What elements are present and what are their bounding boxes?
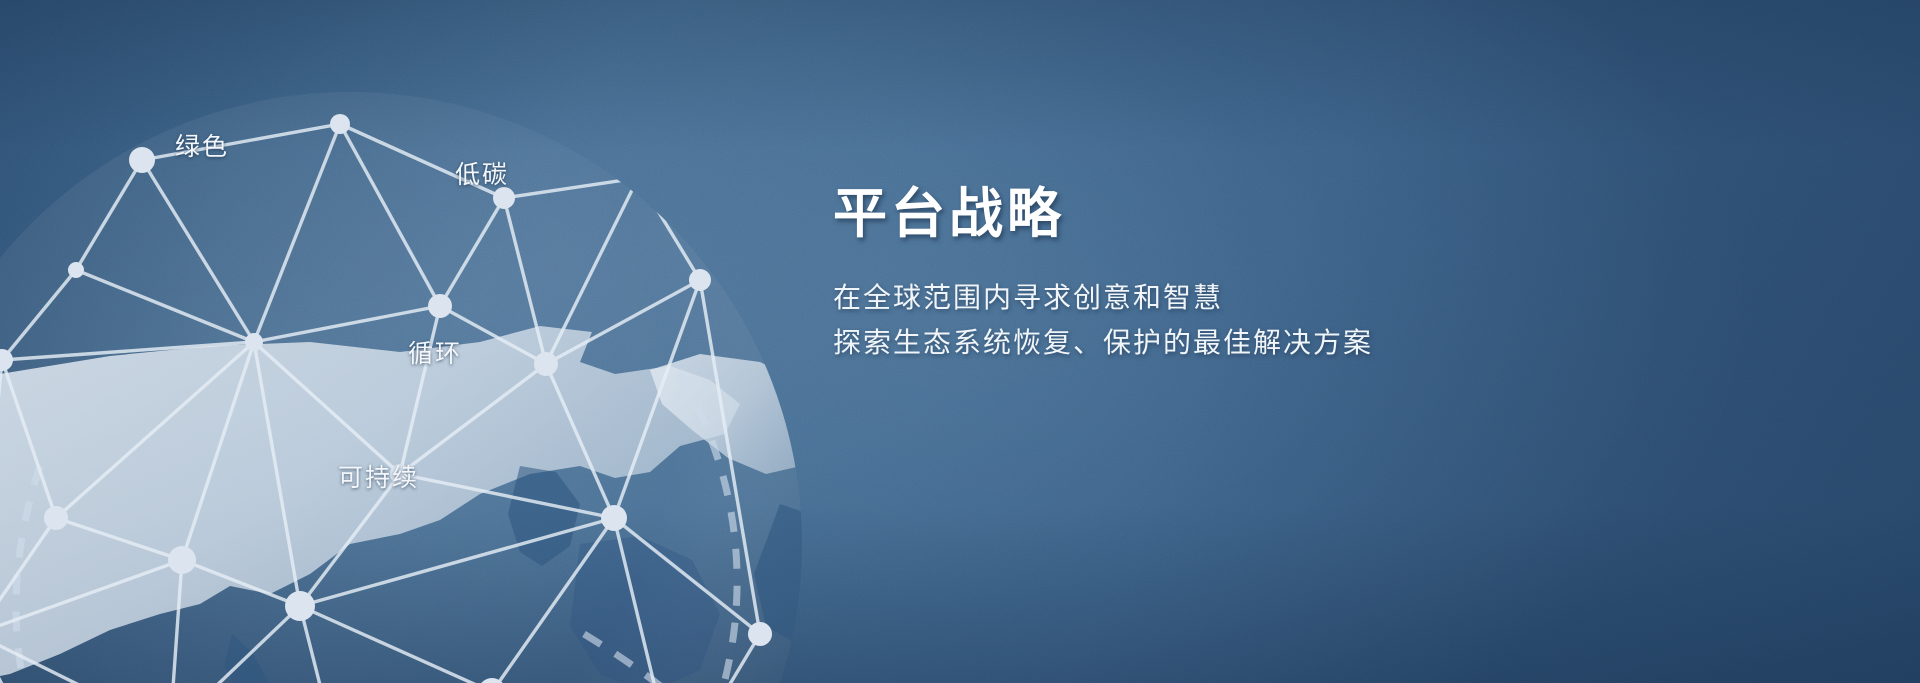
hero-copy-block: 平台战略 在全球范围内寻求创意和智慧 探索生态系统恢复、保护的最佳解决方案 bbox=[833, 183, 1613, 365]
subtitle-line-1: 在全球范围内寻求创意和智慧 bbox=[833, 275, 1613, 320]
node-label-circular: 循环 bbox=[408, 334, 462, 370]
globe-graphic bbox=[0, 74, 860, 683]
node-label-green: 绿色 bbox=[175, 127, 229, 163]
node-label-low-carbon: 低碳 bbox=[455, 155, 509, 191]
page-title: 平台战略 bbox=[833, 183, 1613, 245]
node-label-sustainable: 可持续 bbox=[338, 458, 419, 494]
subtitle-line-2: 探索生态系统恢复、保护的最佳解决方案 bbox=[833, 320, 1613, 365]
hero-banner: 绿色 低碳 循环 可持续 平台战略 在全球范围内寻求创意和智慧 探索生态系统恢复… bbox=[0, 0, 1920, 683]
